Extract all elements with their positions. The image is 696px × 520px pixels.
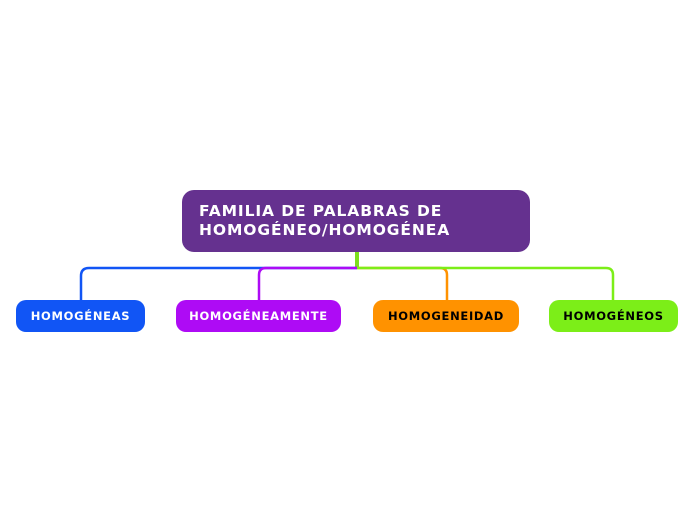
branch-node-homogeneidad[interactable]: HOMOGENEIDAD [373, 300, 519, 332]
branch-node-label: HOMOGENEIDAD [388, 310, 504, 323]
branch-node-homogeneos[interactable]: HOMOGÉNEOS [549, 300, 678, 332]
branch-node-label: HOMOGÉNEAMENTE [189, 310, 328, 323]
mindmap-canvas: FAMILIA DE PALABRAS DE HOMOGÉNEO/HOMOGÉN… [0, 0, 696, 520]
branch-node-homogeneamente[interactable]: HOMOGÉNEAMENTE [176, 300, 341, 332]
connector-branch-1 [259, 268, 357, 300]
connector-branch-2 [357, 268, 447, 300]
connector-layer [0, 0, 696, 520]
connector-branch-0 [81, 268, 357, 300]
branch-node-homogeneas[interactable]: HOMOGÉNEAS [16, 300, 145, 332]
root-node[interactable]: FAMILIA DE PALABRAS DE HOMOGÉNEO/HOMOGÉN… [182, 190, 530, 252]
branch-node-label: HOMOGÉNEOS [563, 310, 663, 323]
connector-branch-3 [357, 268, 613, 300]
root-node-label: FAMILIA DE PALABRAS DE HOMOGÉNEO/HOMOGÉN… [199, 202, 450, 240]
branch-node-label: HOMOGÉNEAS [31, 310, 131, 323]
